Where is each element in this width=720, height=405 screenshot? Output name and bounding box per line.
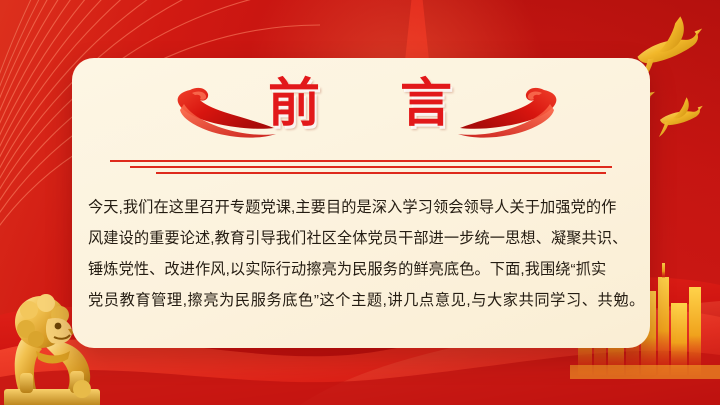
divider-line-3 [156,172,606,174]
presentation-slide: 前 言 今天,我们在这里召开专题党课,主要目的是深入学习领会领导人关于加强党的作… [0,0,720,405]
divider-line-1 [110,160,600,162]
page-title: 前 言 [0,76,720,132]
body-line: 锤炼党性、改进作风,以实际行动擦亮为民服务的鲜亮底色。下面,我围绕“抓实 [88,254,638,285]
body-text: 今天,我们在这里召开专题党课,主要目的是深入学习领会领导人关于加强党的作 风建设… [88,192,638,316]
body-line: 今天,我们在这里召开专题党课,主要目的是深入学习领会领导人关于加强党的作 [88,192,638,223]
body-line: 风建设的重要论述,教育引导我们社区全体党员干部进一步统一思想、凝聚共识、 [88,223,638,254]
body-line: 党员教育管理,擦亮为民服务底色”这个主题,讲几点意见,与大家共同学习、共勉。 [88,285,638,316]
title-divider [110,160,610,180]
divider-line-2 [130,166,612,168]
